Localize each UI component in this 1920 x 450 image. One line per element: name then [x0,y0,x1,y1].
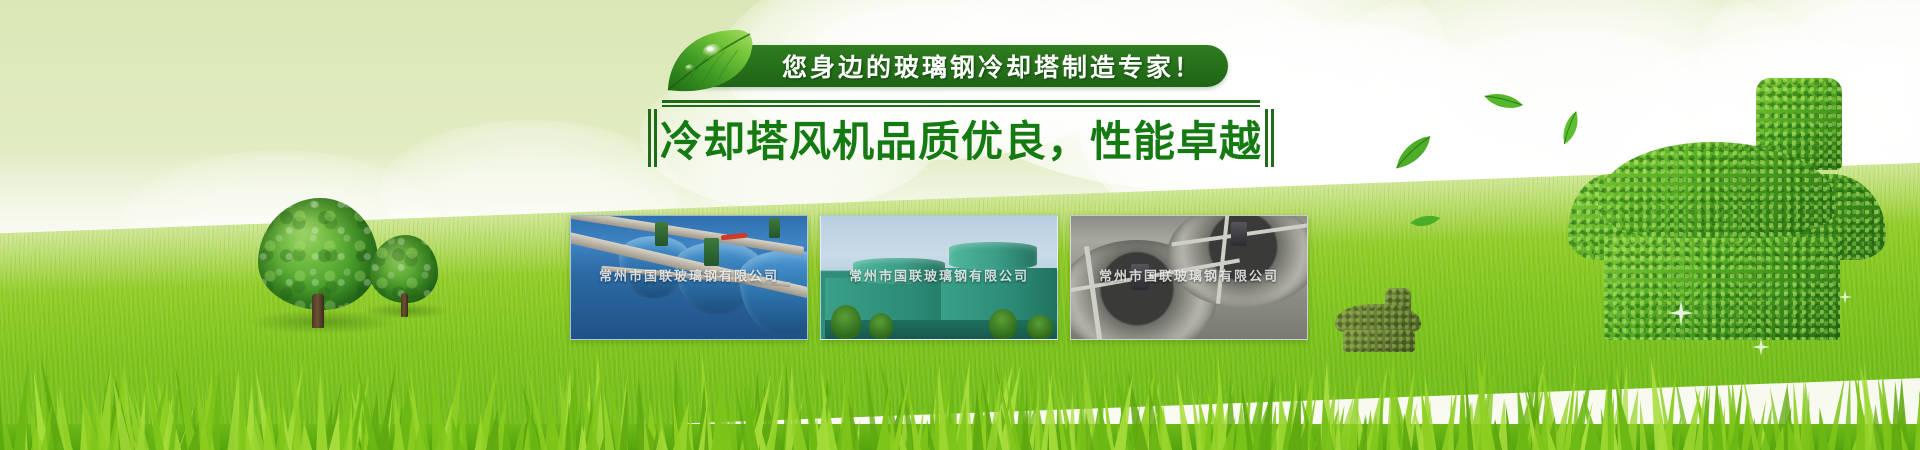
product-photo-strip: 常州市国联玻璃钢有限公司 常州市国联玻璃钢有限公司 常州市国联玻璃钢有限公司 [570,215,1308,340]
headline-top-rule [662,100,1260,107]
large-tree [258,198,378,330]
headline-block: 冷却塔风机品质优良，性能卓越 [648,100,1274,169]
small-tree [370,235,438,319]
tagline-text: 您身边的玻璃钢冷却塔制造专家！ [782,48,1202,84]
floating-leaf [1388,134,1439,172]
headline-left-bar [648,109,657,167]
tagline-pill: 您身边的玻璃钢冷却塔制造专家！ [690,45,1228,87]
headline-right-bar [1265,109,1274,167]
photo-teal-square-towers[interactable]: 常州市国联玻璃钢有限公司 [820,215,1058,340]
photo-blue-frp-tanks[interactable]: 常州市国联玻璃钢有限公司 [570,215,808,340]
headline-text: 冷却塔风机品质优良，性能卓越 [657,108,1265,169]
grass-house-small [1333,288,1429,350]
promo-banner: 您身边的玻璃钢冷却塔制造专家！ [0,0,1920,450]
floating-leaf [1482,83,1524,121]
photo-grey-round-towers[interactable]: 常州市国联玻璃钢有限公司 [1070,215,1308,340]
grass-house-large [1560,78,1890,340]
